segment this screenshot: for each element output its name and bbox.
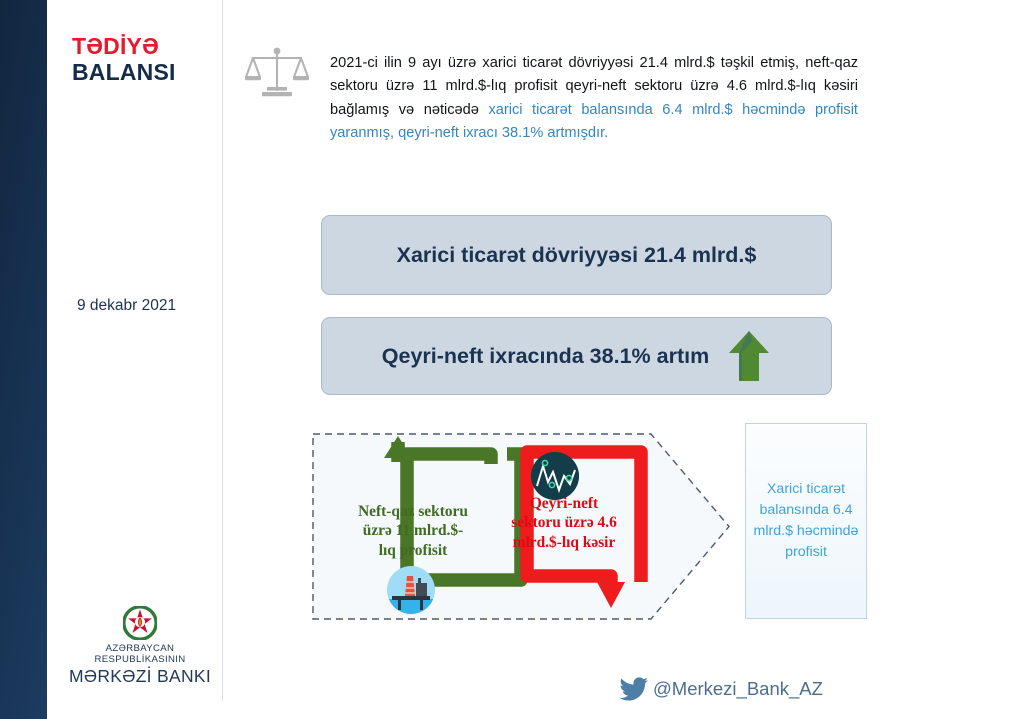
- bank-name-line-2: MƏRKƏZİ BANKI: [60, 665, 220, 687]
- up-arrow-icon: [727, 329, 771, 383]
- stat-box-nonoil-export-growth[interactable]: Qeyri-neft ixracında 38.1% artım: [321, 317, 832, 395]
- vertical-divider: [222, 0, 223, 701]
- page-title: TƏDİYƏ BALANSI: [72, 33, 176, 86]
- bank-logo: AZƏRBAYCAN RESPUBLİKASININ MƏRKƏZİ BANKI: [60, 606, 220, 687]
- azerbaijan-coat-of-arms-icon: [123, 606, 157, 640]
- twitter-bird-icon: [619, 677, 649, 701]
- stat-box-nonoil-export-growth-label: Qeyri-neft ixracında 38.1% artım: [382, 344, 709, 369]
- stat-box-trade-turnover[interactable]: Xarici ticarət dövriyyəsi 21.4 mlrd.$: [321, 215, 832, 295]
- flow-box-nonoil-sector-label: Qeyri-neft sektoru üzrə 4.6 mlrd.$-lıq k…: [508, 494, 620, 553]
- title-line-tediye: TƏDİYƏ: [72, 33, 176, 59]
- result-panel-trade-balance: Xarici ticarət balansında 6.4 mlrd.$ həc…: [745, 423, 867, 619]
- stat-box-trade-turnover-label: Xarici ticarət dövriyyəsi 21.4 mlrd.$: [397, 243, 757, 268]
- publication-date: 9 dekabr 2021: [77, 297, 176, 315]
- scales-of-justice-icon: [244, 42, 310, 104]
- bank-name-line-1: AZƏRBAYCAN RESPUBLİKASININ: [60, 643, 220, 665]
- oil-rig-icon: [387, 566, 435, 614]
- result-panel-label: Xarici ticarət balansında 6.4 mlrd.$ həc…: [746, 479, 866, 563]
- twitter-handle-text: @Merkezi_Bank_AZ: [653, 678, 823, 700]
- intro-paragraph: 2021-ci ilin 9 ayı üzrə xarici ticarət d…: [330, 52, 858, 146]
- flow-box-oil-gas-sector-label: Neft-qaz sektoru üzrə 11 mlrd.$-lıq prof…: [358, 502, 468, 561]
- twitter-handle-block[interactable]: @Merkezi_Bank_AZ: [619, 677, 823, 701]
- left-navy-bar: [0, 0, 47, 719]
- chart-line-icon: [531, 452, 579, 500]
- title-line-balansi: BALANSI: [72, 59, 176, 86]
